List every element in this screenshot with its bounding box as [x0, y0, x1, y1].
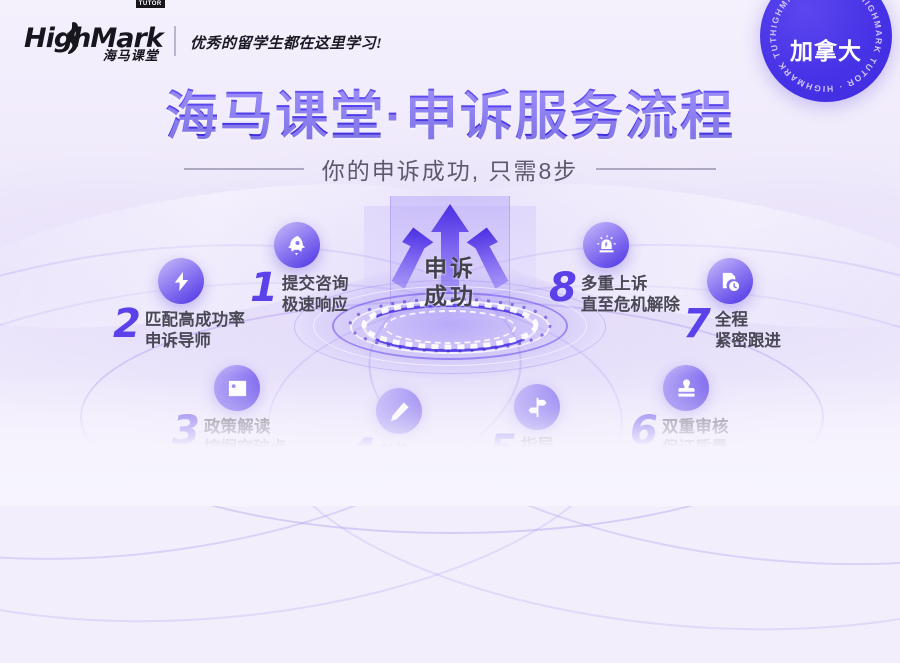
hub-label-line1: 申诉: [330, 254, 570, 282]
logo-chinese-name: 海马课堂: [103, 45, 159, 64]
step-8-label: 多重上诉直至危机解除: [581, 270, 680, 316]
brand-logo[interactable]: HighMark TUTOR 海马课堂 优秀的留学生都在这里学习!: [24, 10, 163, 52]
alarm-siren-icon: [583, 222, 629, 268]
country-badge-label: 加拿大: [760, 6, 892, 66]
step-2-number: 2: [113, 306, 141, 343]
header-divider: [174, 26, 176, 56]
subtitle-rule-left: [184, 168, 304, 170]
step-2-label: 匹配高成功率申诉导师: [145, 306, 245, 352]
step-8[interactable]: 8 多重上诉直至危机解除: [549, 222, 680, 316]
step-2[interactable]: 2 匹配高成功率申诉导师: [113, 258, 245, 352]
logo-tutor-badge: TUTOR: [136, 0, 165, 8]
step-2-text: 2 匹配高成功率申诉导师: [113, 306, 245, 352]
logo-mark: HighMark TUTOR 海马课堂: [24, 10, 163, 52]
page-subtitle: 你的申诉成功, 只需8步: [322, 152, 579, 186]
rocket-icon: [274, 222, 320, 268]
center-hub: 申诉 成功: [330, 196, 570, 376]
step-7-label: 全程紧密跟进: [715, 306, 781, 352]
clock-document-icon: [707, 258, 753, 304]
brand-tagline: 优秀的留学生都在这里学习!: [190, 32, 382, 53]
infographic-canvas: HighMark TUTOR 海马课堂 优秀的留学生都在这里学习! HIGHMA…: [0, 0, 900, 506]
step-7[interactable]: 7 全程紧密跟进: [683, 258, 781, 352]
step-1-number: 1: [250, 270, 278, 307]
page-title: 海马课堂·申诉服务流程: [0, 74, 900, 150]
seahorse-icon: [65, 21, 80, 61]
hub-label: 申诉 成功: [330, 254, 570, 310]
step-8-text: 8 多重上诉直至危机解除: [549, 270, 680, 316]
subtitle-row: 你的申诉成功, 只需8步: [0, 152, 900, 186]
step-1-text: 1 提交咨询极速响应: [250, 270, 349, 316]
step-1-label: 提交咨询极速响应: [282, 270, 349, 316]
header-bar: HighMark TUTOR 海马课堂 优秀的留学生都在这里学习! HIGHMA…: [0, 0, 900, 62]
step-1[interactable]: 1 提交咨询极速响应: [250, 222, 349, 316]
hub-label-line2: 成功: [330, 282, 570, 310]
step-7-text: 7 全程紧密跟进: [683, 306, 781, 352]
subtitle-rule-right: [596, 168, 716, 170]
lightning-bolt-icon: [158, 258, 204, 304]
bottom-fade: [0, 376, 900, 506]
step-8-number: 8: [549, 270, 577, 307]
step-7-number: 7: [683, 306, 711, 343]
